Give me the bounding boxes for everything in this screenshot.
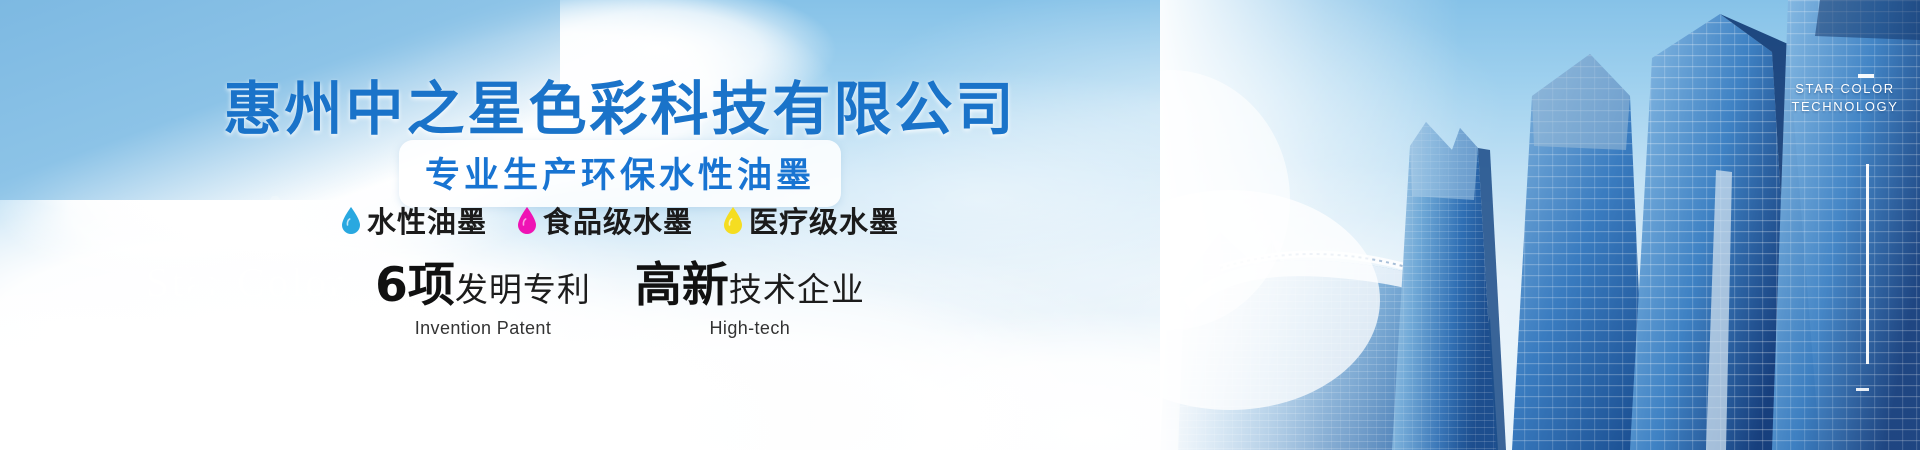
feature-item-food-grade: 食品级水墨 <box>517 199 693 241</box>
water-drop-icon <box>341 206 361 234</box>
building-brand-label: STAR COLOR TECHNOLOGY <box>1780 80 1910 116</box>
feature-item-medical-grade: 医疗级水墨 <box>723 199 899 241</box>
building-label-line1: STAR COLOR <box>1780 80 1910 98</box>
water-drop-icon <box>517 206 537 234</box>
banner-content: 惠州中之星色彩科技有限公司 专业生产环保水性油墨 水性油墨 食品级水墨 <box>0 0 1240 450</box>
badge-invention-patent: 6项发明专利 Invention Patent <box>375 262 591 339</box>
credential-badges: 6项发明专利 Invention Patent 高新技术企业 High-tech <box>0 262 1240 339</box>
badge-highlight: 高新 <box>635 258 729 313</box>
badge-high-tech: 高新技术企业 High-tech <box>635 262 865 339</box>
tagline-pill: 专业生产环保水性油墨 <box>399 140 841 207</box>
feature-list: 水性油墨 食品级水墨 医疗级水墨 <box>0 199 1240 241</box>
badge-rest: 发明专利 <box>455 270 591 309</box>
badge-chinese: 6项发明专利 <box>375 262 591 309</box>
hero-banner: Star Color <box>0 0 1920 450</box>
company-title: 惠州中之星色彩科技有限公司 <box>0 62 1240 146</box>
badge-highlight: 6项 <box>375 258 455 313</box>
feature-item-water-ink: 水性油墨 <box>341 199 487 241</box>
tagline-row: 专业生产环保水性油墨 <box>0 140 1240 207</box>
badge-chinese: 高新技术企业 <box>635 262 865 309</box>
feature-label: 水性油墨 <box>367 199 487 241</box>
feature-label: 医疗级水墨 <box>749 199 899 241</box>
feature-label: 食品级水墨 <box>543 199 693 241</box>
water-drop-icon <box>723 206 743 234</box>
skyscraper-photo: STAR COLOR TECHNOLOGY <box>1160 0 1920 450</box>
badge-english: Invention Patent <box>375 318 591 339</box>
building-label-line2: TECHNOLOGY <box>1780 98 1910 116</box>
badge-english: High-tech <box>635 318 865 339</box>
buildings-graphic <box>1160 0 1920 450</box>
badge-rest: 技术企业 <box>729 270 865 309</box>
